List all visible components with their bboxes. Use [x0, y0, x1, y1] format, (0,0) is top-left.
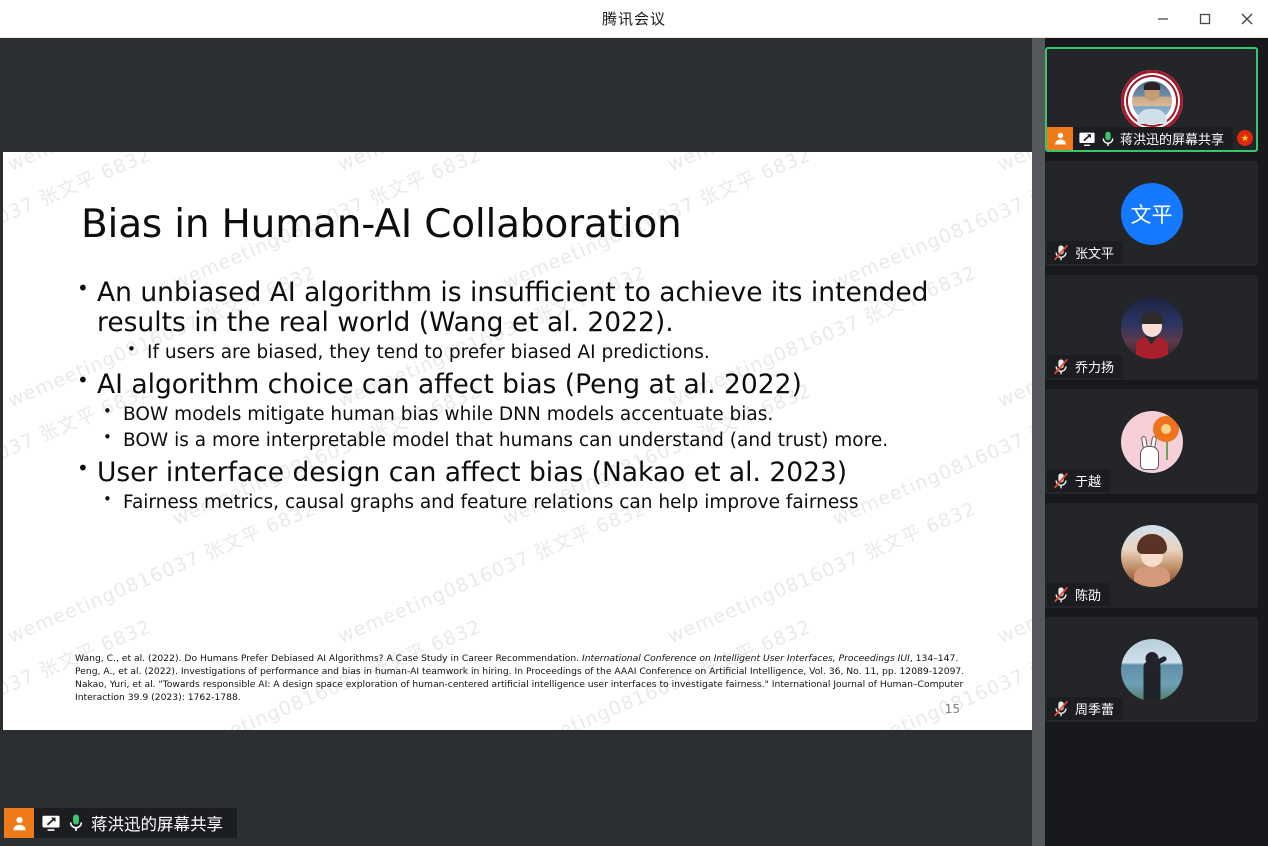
reference-line: Peng, A., et al. (2022). Investigations … [75, 665, 965, 678]
microphone-muted-icon [1053, 472, 1070, 490]
china-flag-badge: ★ [1235, 128, 1255, 148]
sidebar-scrollbar[interactable] [1032, 38, 1045, 846]
slide-page-number: 15 [945, 702, 960, 716]
slide-text-layer: Bias in Human-AI Collaboration An unbias… [3, 152, 1032, 730]
slide-sub-bullet-list: BOW models mitigate human bias while DNN… [97, 403, 1005, 452]
avatar [1121, 70, 1183, 132]
maximize-button[interactable] [1184, 0, 1226, 38]
avatar [1121, 639, 1183, 701]
title-bar: 腾讯会议 [0, 0, 1268, 38]
participant-name-strip: 蒋洪迅的屏幕共享 [1047, 127, 1233, 150]
reference-text: Nakao, Yuri, et al. "Towards responsible… [75, 679, 963, 703]
participant-name: 于越 [1075, 471, 1101, 490]
slide-sub-bullet-text: If users are biased, they tend to prefer… [147, 342, 710, 363]
participant-name-strip: 于越 [1047, 469, 1110, 492]
slide-sub-bullet: BOW models mitigate human bias while DNN… [97, 403, 1005, 427]
participant-name-strip: 张文平 [1047, 241, 1123, 264]
reference-pages: , 134–147. [910, 653, 958, 664]
slide-bullet: An unbiased AI algorithm is insufficient… [75, 278, 1005, 365]
participant-name: 陈劭 [1075, 585, 1101, 604]
minimize-button[interactable] [1142, 0, 1184, 38]
slide-bullet-list: An unbiased AI algorithm is insufficient… [75, 278, 1005, 520]
screen-share-icon [1078, 131, 1096, 147]
close-button[interactable] [1226, 0, 1268, 38]
slide-sub-bullet-text: BOW is a more interpretable model that h… [123, 430, 888, 451]
avatar: 文平 [1121, 183, 1183, 245]
maximize-icon [1198, 12, 1212, 26]
close-icon [1239, 11, 1255, 27]
minimize-icon [1156, 12, 1170, 26]
microphone-muted-icon [1053, 586, 1070, 604]
participant-sidebar: ★蒋洪迅的屏幕共享文平张文平乔力扬于越陈劭周季蕾 [1032, 38, 1268, 846]
slide-bullet: User interface design can affect bias (N… [75, 458, 1005, 515]
avatar [1121, 525, 1183, 587]
microphone-muted-icon [1053, 244, 1070, 262]
share-bar-label: 蒋洪迅的屏幕共享 [91, 811, 223, 835]
reference-line: Wang, C., et al. (2022). Do Humans Prefe… [75, 652, 965, 665]
participant-tile[interactable]: 周季蕾 [1045, 617, 1258, 722]
slide-bullet-text: User interface design can affect bias (N… [97, 457, 847, 488]
participant-name-strip: 周季蕾 [1047, 697, 1123, 720]
reference-journal: International Conference on Intelligent … [582, 653, 910, 664]
slide-sub-bullet: If users are biased, they tend to prefer… [121, 341, 1005, 365]
participant-tile[interactable]: 陈劭 [1045, 503, 1258, 608]
participant-name: 周季蕾 [1075, 699, 1114, 718]
slide-sub-bullet-list: If users are biased, they tend to prefer… [97, 341, 1005, 365]
references-block: Wang, C., et al. (2022). Do Humans Prefe… [75, 652, 965, 704]
microphone-icon [68, 813, 84, 833]
tencent-meeting-window: 腾讯会议 [0, 0, 1268, 846]
participant-tile[interactable]: 乔力扬 [1045, 275, 1258, 380]
microphone-icon [1101, 130, 1115, 148]
slide-sub-bullet-list: Fairness metrics, causal graphs and feat… [97, 491, 1005, 515]
window-controls [1142, 0, 1268, 38]
host-person-icon [1047, 127, 1073, 150]
slide-bullet-text: AI algorithm choice can affect bias (Pen… [97, 369, 802, 400]
screen-share-icon [41, 814, 61, 832]
avatar-body [1137, 109, 1167, 124]
participant-name: 蒋洪迅的屏幕共享 [1120, 129, 1224, 148]
window-title: 腾讯会议 [602, 8, 666, 29]
slide-sub-bullet: Fairness metrics, causal graphs and feat… [97, 491, 1005, 515]
reference-text: Peng, A., et al. (2022). Investigations … [75, 666, 964, 677]
avatar [1121, 297, 1183, 359]
shared-screen-stage[interactable]: wemeeting0816037 张文平 6832wemeeting081603… [0, 38, 1032, 846]
slide-sub-bullet: BOW is a more interpretable model that h… [97, 429, 1005, 453]
slide-sub-bullet-text: Fairness metrics, causal graphs and feat… [123, 492, 858, 513]
participant-tile[interactable]: 于越 [1045, 389, 1258, 494]
participant-name: 张文平 [1075, 243, 1114, 262]
slide-title: Bias in Human-AI Collaboration [81, 202, 981, 247]
reference-line: Nakao, Yuri, et al. "Towards responsible… [75, 678, 965, 704]
participant-tile[interactable]: ★蒋洪迅的屏幕共享 [1045, 47, 1258, 152]
participant-tile[interactable]: 文平张文平 [1045, 161, 1258, 266]
slide-bullet: AI algorithm choice can affect bias (Pen… [75, 370, 1005, 453]
microphone-muted-icon [1053, 358, 1070, 376]
participant-tile-list: ★蒋洪迅的屏幕共享文平张文平乔力扬于越陈劭周季蕾 [1045, 38, 1268, 846]
participant-name: 乔力扬 [1075, 357, 1114, 376]
avatar-hair [1144, 82, 1160, 90]
participant-name-strip: 陈劭 [1047, 583, 1110, 606]
slide-sub-bullet-text: BOW models mitigate human bias while DNN… [123, 404, 773, 425]
microphone-muted-icon [1053, 700, 1070, 718]
host-person-icon [4, 808, 34, 838]
reference-text: Wang, C., et al. (2022). Do Humans Prefe… [75, 653, 582, 664]
participant-name-strip: 乔力扬 [1047, 355, 1123, 378]
presentation-slide: wemeeting0816037 张文平 6832wemeeting081603… [3, 152, 1032, 730]
stage-inner: wemeeting0816037 张文平 6832wemeeting081603… [0, 38, 1032, 846]
slide-content: wemeeting0816037 张文平 6832wemeeting081603… [3, 152, 1032, 730]
screen-share-status-bar: 蒋洪迅的屏幕共享 [4, 808, 237, 838]
slide-bullet-text: An unbiased AI algorithm is insufficient… [97, 277, 929, 338]
avatar [1121, 411, 1183, 473]
avatar-initials: 文平 [1131, 199, 1173, 229]
